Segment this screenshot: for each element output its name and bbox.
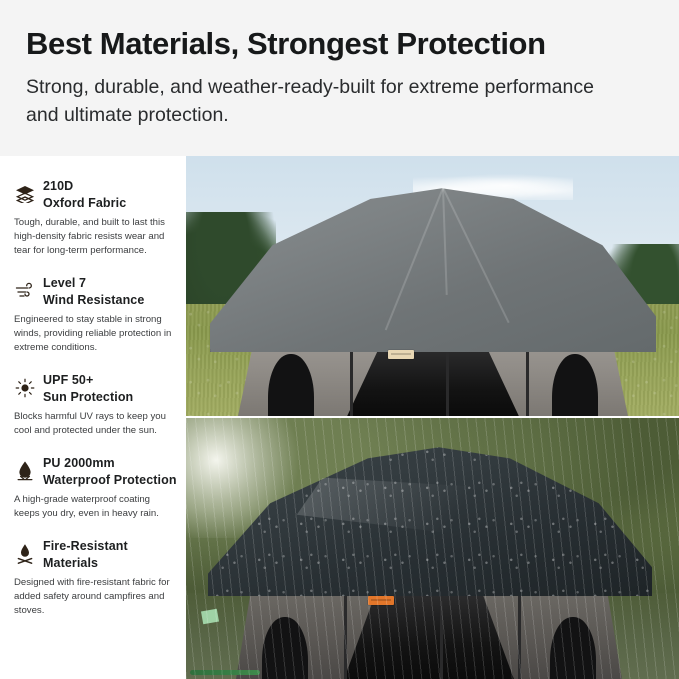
feature-header: PU 2000mm Waterproof Protection <box>14 455 178 488</box>
feature-titles: 210D Oxford Fabric <box>43 178 126 211</box>
feature-title-line1: Level 7 <box>43 275 144 292</box>
feature-titles: UPF 50+ Sun Protection <box>43 372 133 405</box>
gazebo-tent-sunny-photo <box>186 156 679 416</box>
feature-title-line1: 210D <box>43 178 126 195</box>
feature-title-line1: UPF 50+ <box>43 372 133 389</box>
feature-item-sun-protection: UPF 50+ Sun Protection Blocks harmful UV… <box>14 372 178 438</box>
feature-header: Level 7 Wind Resistance <box>14 275 178 308</box>
header-banner: Best Materials, Strongest Protection Str… <box>0 0 679 156</box>
feature-item-wind-resistance: Level 7 Wind Resistance Engineered to st… <box>14 275 178 355</box>
feature-title-line2: Sun Protection <box>43 389 133 406</box>
tent-pole-center <box>446 344 449 416</box>
tent-pole-right <box>526 344 529 416</box>
layers-icon <box>14 179 36 209</box>
feature-title-line1: Fire-Resistant <box>43 538 128 555</box>
feature-description: Blocks harmful UV rays to keep you cool … <box>14 410 176 438</box>
feature-header: UPF 50+ Sun Protection <box>14 372 178 405</box>
feature-title-line2: Waterproof Protection <box>43 472 177 489</box>
feature-header: 210D Oxford Fabric <box>14 178 178 211</box>
tent-body <box>238 342 628 416</box>
gazebo-tent-rain-photo <box>186 418 679 679</box>
feature-title-line2: Oxford Fabric <box>43 195 126 212</box>
feature-titles: Level 7 Wind Resistance <box>43 275 144 308</box>
feature-item-oxford-fabric: 210D Oxford Fabric Tough, durable, and b… <box>14 178 178 258</box>
feature-description: Engineered to stay stable in strong wind… <box>14 313 176 355</box>
photo-column <box>186 156 679 679</box>
feature-header: Fire-Resistant Materials <box>14 538 178 571</box>
water-drop-icon <box>14 456 36 486</box>
canopy-label-tag <box>388 350 414 359</box>
campfire-icon <box>14 539 36 569</box>
feature-item-fire-resistant: Fire-Resistant Materials Designed with f… <box>14 538 178 618</box>
page-title: Best Materials, Strongest Protection <box>26 26 671 62</box>
feature-description: Tough, durable, and built to last this h… <box>14 216 176 258</box>
feature-title-line2: Materials <box>43 555 128 572</box>
rainfly-seam <box>442 188 509 323</box>
rainfly-seam <box>385 188 444 330</box>
feature-titles: Fire-Resistant Materials <box>43 538 128 571</box>
page-subtitle: Strong, durable, and weather-ready-built… <box>26 73 626 130</box>
feature-title-line2: Wind Resistance <box>43 292 144 309</box>
feature-list: 210D Oxford Fabric Tough, durable, and b… <box>0 156 186 679</box>
feature-description: Designed with fire-resistant fabric for … <box>14 576 176 618</box>
wind-icon <box>14 276 36 306</box>
sun-icon <box>14 373 36 403</box>
rainfly-seam <box>442 188 447 295</box>
rainfly-canopy <box>210 174 656 352</box>
feature-item-waterproof: PU 2000mm Waterproof Protection A high-g… <box>14 455 178 521</box>
tent-rainfly <box>210 174 656 352</box>
content-area: 210D Oxford Fabric Tough, durable, and b… <box>0 156 679 679</box>
feature-description: A high-grade waterproof coating keeps yo… <box>14 493 176 521</box>
feature-titles: PU 2000mm Waterproof Protection <box>43 455 177 488</box>
rain-streaks <box>186 418 679 679</box>
tent-pole-left <box>350 344 353 416</box>
infographic-page: Best Materials, Strongest Protection Str… <box>0 0 679 679</box>
feature-title-line1: PU 2000mm <box>43 455 177 472</box>
